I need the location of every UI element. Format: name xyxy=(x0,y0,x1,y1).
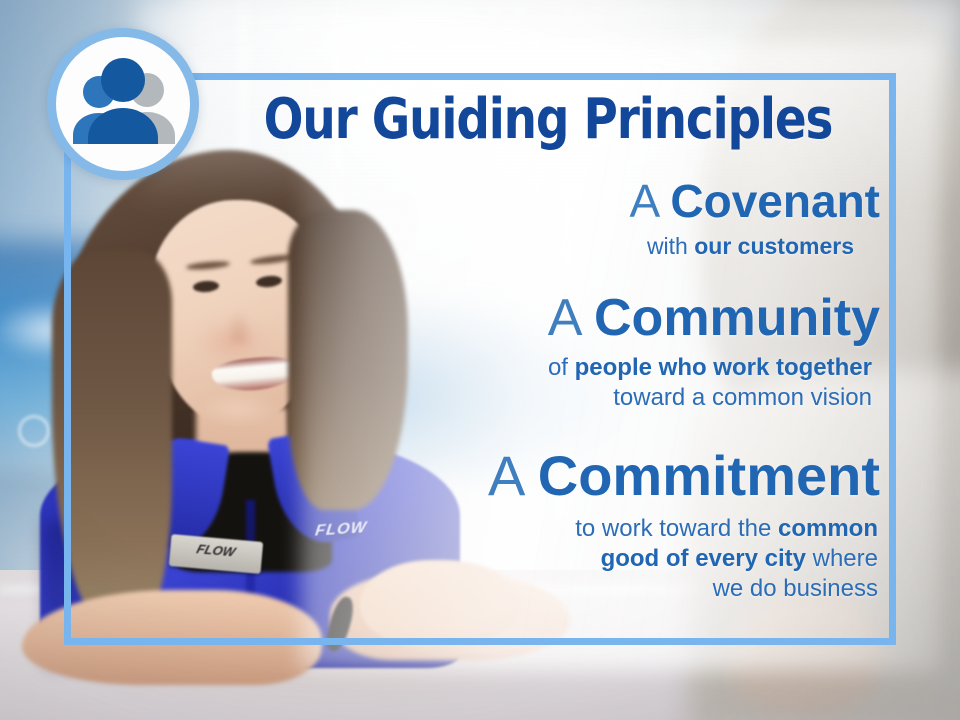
subline-plain: to work toward the xyxy=(575,515,778,542)
principle-commitment: A Commitment to work toward the common g… xyxy=(180,447,880,604)
principle-subline: of people who work together xyxy=(180,353,872,383)
subline-bold: good of every city xyxy=(601,545,806,572)
subline-bold: common xyxy=(778,515,878,542)
subline-bold: our customers xyxy=(694,233,854,259)
subline-plain: of xyxy=(548,354,575,381)
principle-subtext: with our customers xyxy=(180,232,880,261)
principle-subline: good of every city where xyxy=(180,544,878,574)
principle-heading: A Community xyxy=(180,291,880,345)
principle-word: Community xyxy=(594,289,880,347)
principle-subtext: to work toward the common good of every … xyxy=(180,514,880,605)
principle-subtext: of people who work together toward a com… xyxy=(180,353,880,413)
principle-article: A xyxy=(488,444,522,507)
principle-word: Commitment xyxy=(538,444,880,507)
principle-subline: with our customers xyxy=(180,232,854,261)
principle-community: A Community of people who work together … xyxy=(180,291,880,414)
principle-word: Covenant xyxy=(670,175,880,227)
subline-plain: where xyxy=(806,545,878,572)
subline-plain: with xyxy=(647,233,694,259)
principle-covenant: A Covenant with our customers xyxy=(180,178,880,261)
principle-subline: to work toward the common xyxy=(180,514,878,544)
principle-article: A xyxy=(629,175,657,227)
principle-article: A xyxy=(548,289,580,347)
principle-heading: A Commitment xyxy=(180,447,880,505)
principles-list: A Covenant with our customers A Communit… xyxy=(180,178,880,612)
page-title: Our Guiding Principles xyxy=(234,92,863,148)
principle-heading: A Covenant xyxy=(180,178,880,226)
subline-bold: people who work together xyxy=(575,354,872,381)
principle-subline: toward a common vision xyxy=(180,383,872,413)
principle-subline: we do business xyxy=(180,574,878,604)
guiding-principles-graphic: FLOW FLOW Our Guiding xyxy=(0,0,960,720)
people-group-icon xyxy=(47,28,199,180)
